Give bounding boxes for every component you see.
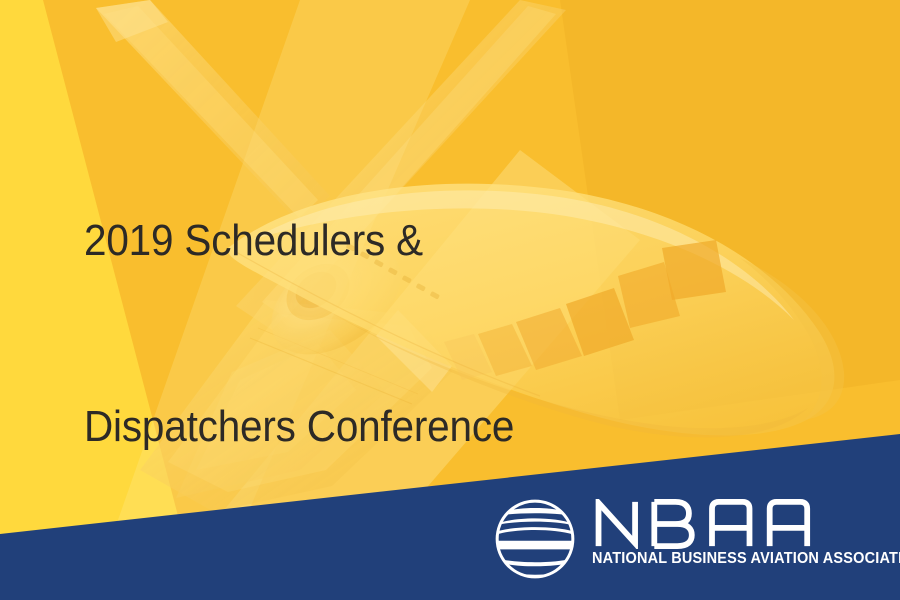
headline-line-2: Dispatchers Conference — [84, 396, 599, 458]
nbaa-globe-icon — [492, 496, 578, 582]
nbaa-wordmark — [592, 499, 882, 549]
headline-line-1: 2019 Schedulers & — [84, 210, 599, 272]
promo-banner: 2019 Schedulers & Dispatchers Conference… — [0, 0, 900, 600]
nbaa-logo: NATIONAL BUSINESS AVIATION ASSOCIATION — [492, 495, 900, 582]
nbaa-tagline: NATIONAL BUSINESS AVIATION ASSOCIATION — [592, 550, 900, 567]
